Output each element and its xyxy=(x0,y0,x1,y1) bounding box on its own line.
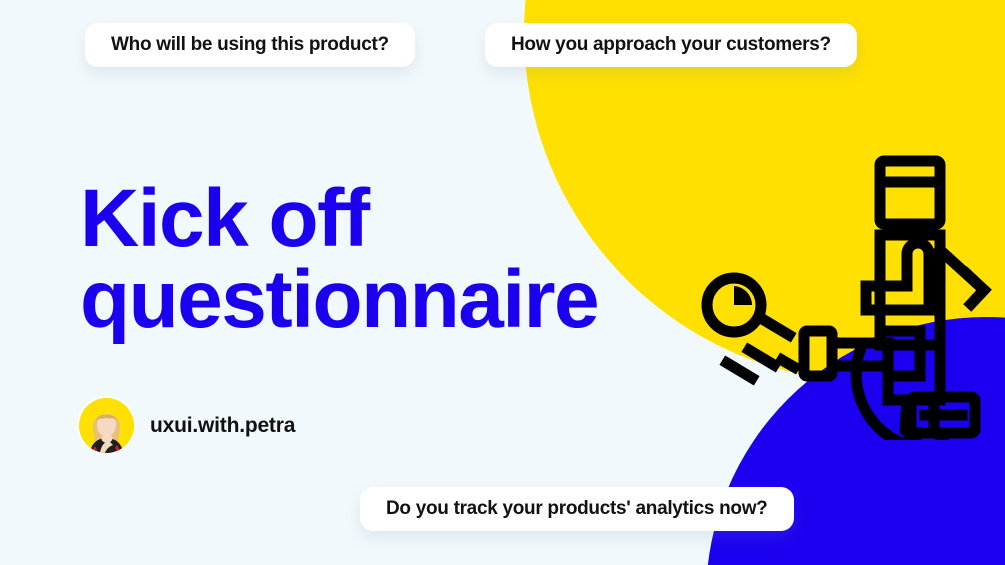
figure-back-arm xyxy=(940,250,984,304)
figure-head xyxy=(880,161,940,224)
question-pill-do-you-track[interactable]: Do you track your products' analytics no… xyxy=(360,487,794,531)
poster-canvas: Kick off questionnaire xyxy=(0,0,1005,565)
person-with-magnifier-illustration xyxy=(694,145,994,440)
author-handle: uxui.with.petra xyxy=(150,414,295,438)
magnifying-glass-icon xyxy=(707,278,794,378)
question-pill-label: Who will be using this product? xyxy=(111,34,389,56)
question-pill-label: How you approach your customers? xyxy=(511,34,831,56)
question-pill-who-will-be-using[interactable]: Who will be using this product? xyxy=(85,23,415,67)
page-title: Kick off questionnaire xyxy=(80,178,700,340)
author-row: uxui.with.petra xyxy=(79,398,295,453)
question-pill-how-you-approach[interactable]: How you approach your customers? xyxy=(485,23,857,67)
figure-shoe-final xyxy=(911,397,975,433)
question-pill-label: Do you track your products' analytics no… xyxy=(386,498,768,520)
avatar xyxy=(79,398,134,453)
